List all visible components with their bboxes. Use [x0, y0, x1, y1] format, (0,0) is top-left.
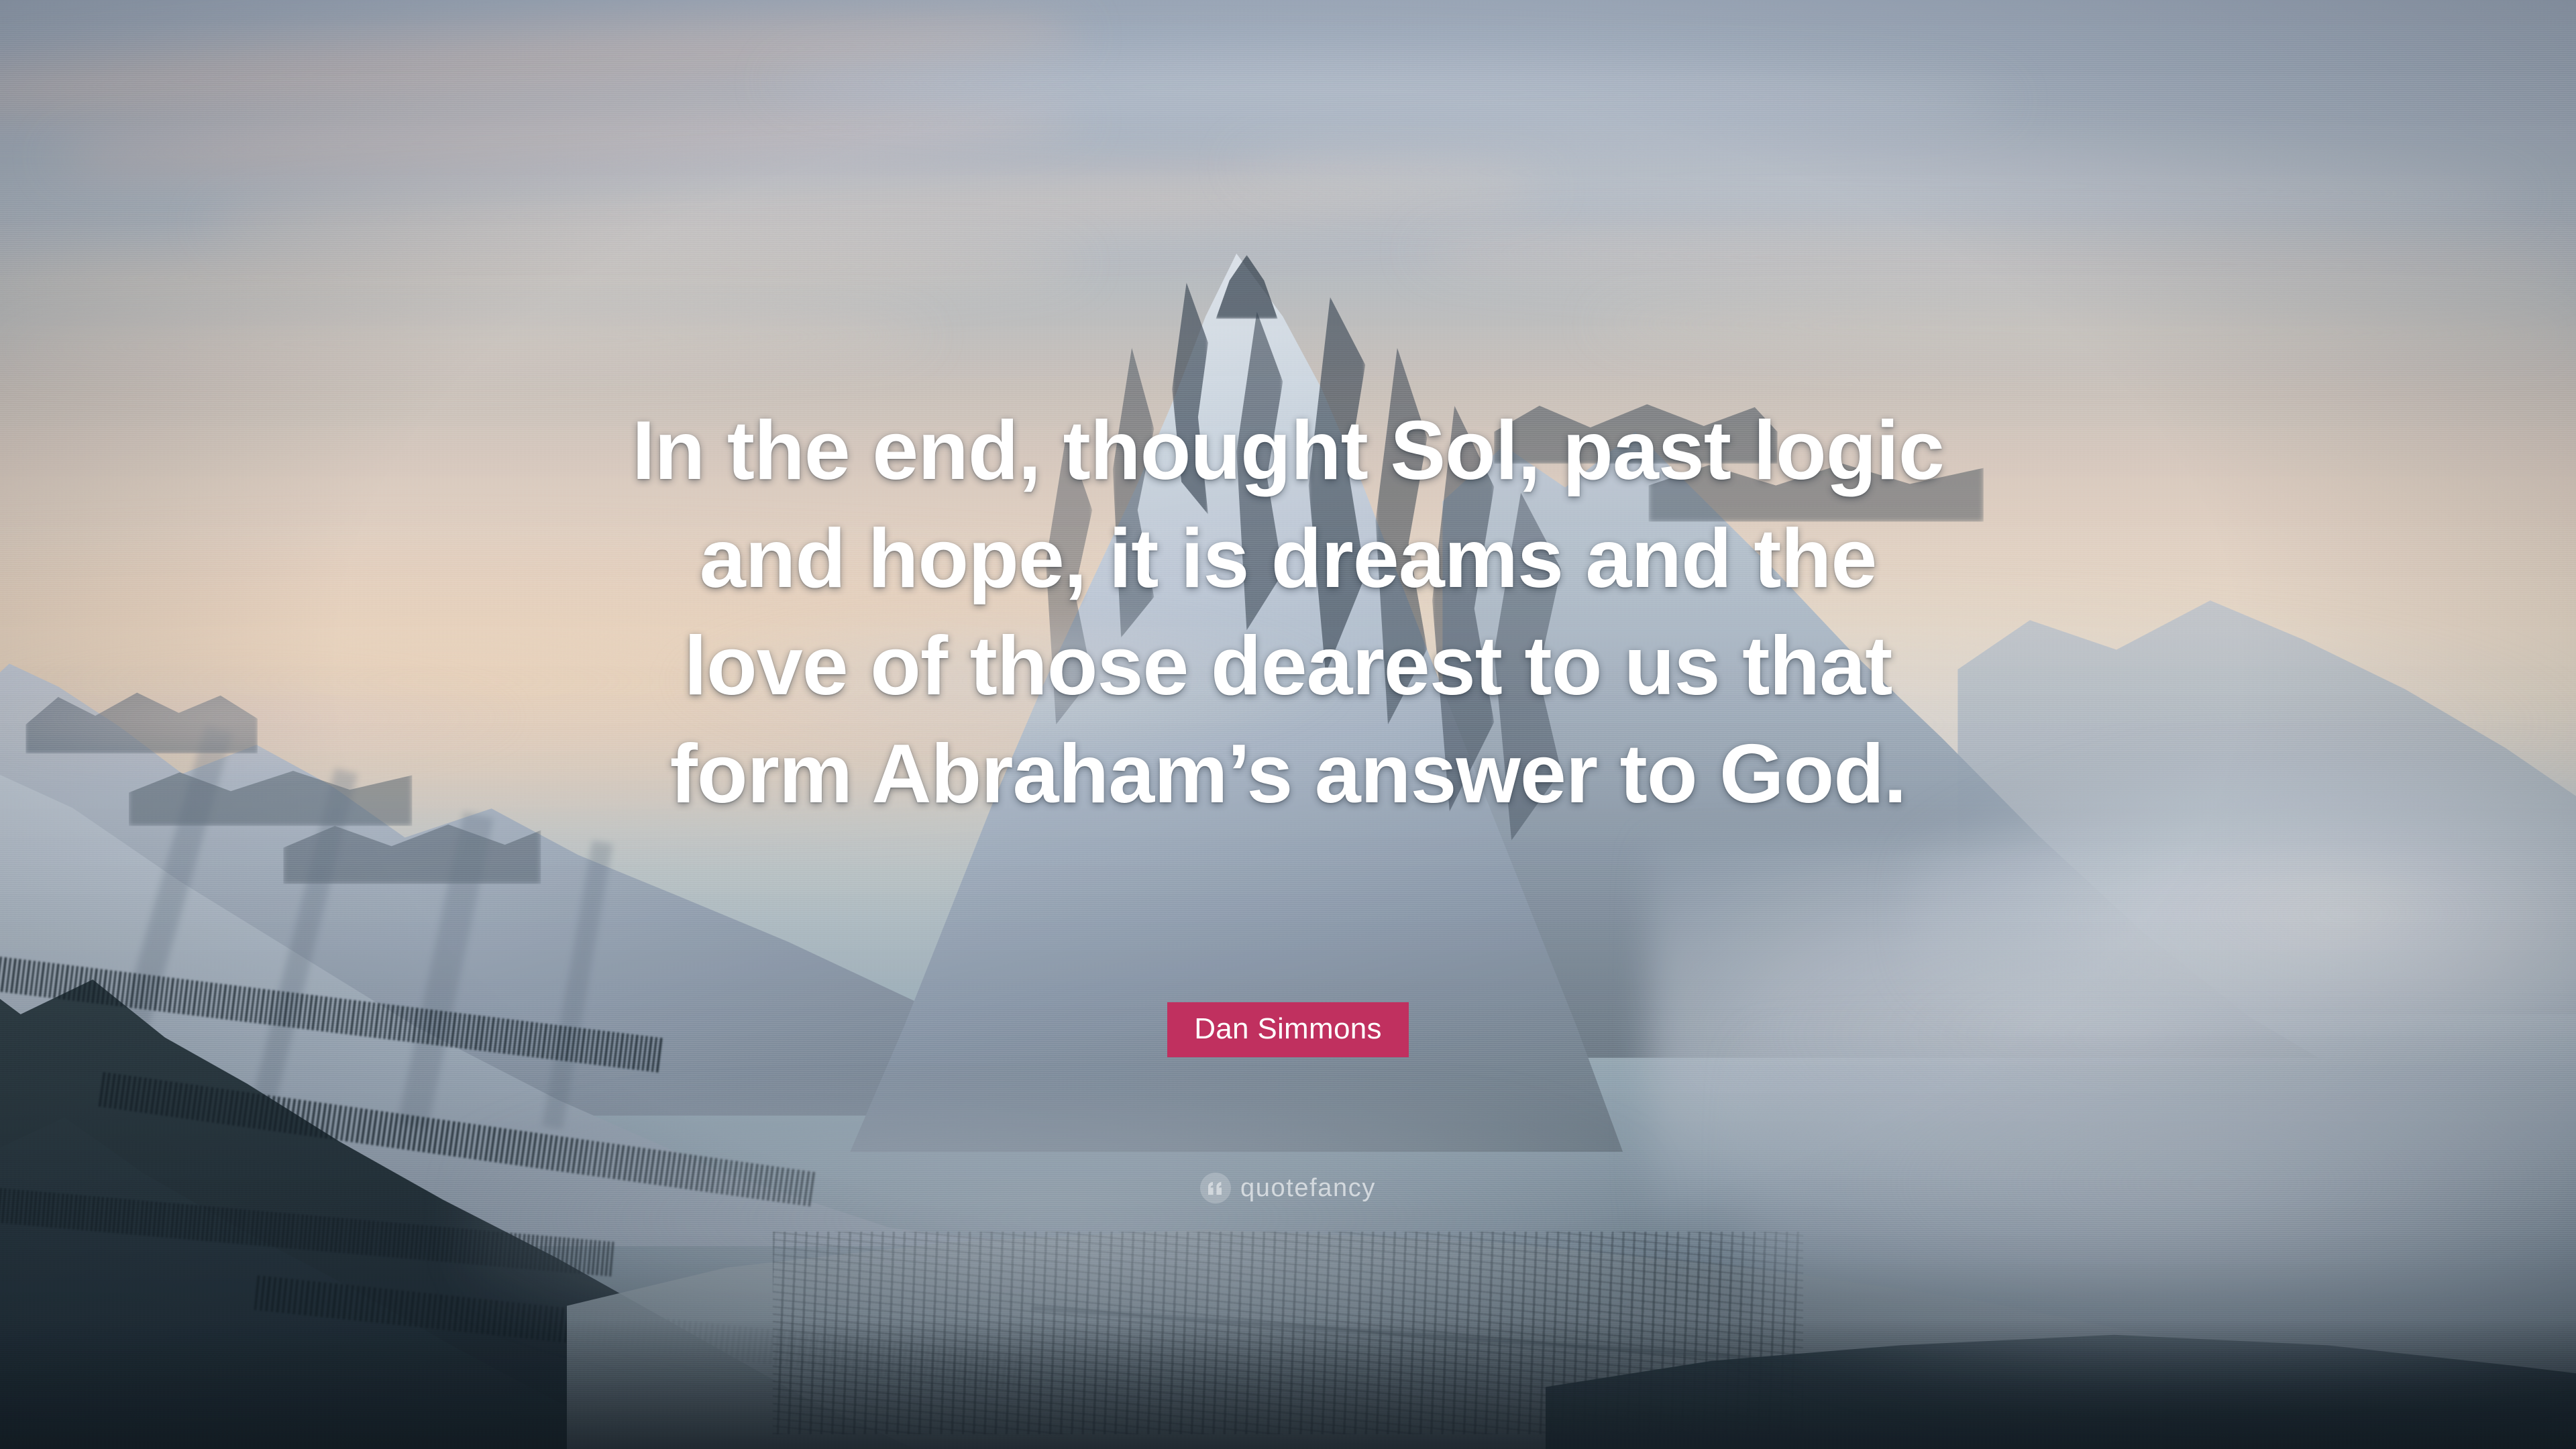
quotefancy-brand-text: quotefancy	[1240, 1174, 1376, 1203]
author-badge[interactable]: Dan Simmons	[1167, 1002, 1409, 1057]
quote-line: love of those dearest to us that	[221, 612, 2355, 720]
quote-line: form Abraham’s answer to God.	[221, 720, 2355, 828]
text-overlay: In the end, thought Sol, past logic and …	[0, 0, 2576, 1449]
quotefancy-watermark[interactable]: quotefancy	[0, 1173, 2576, 1203]
quote-mark-icon	[1200, 1173, 1231, 1203]
quote-line: In the end, thought Sol, past logic	[221, 397, 2355, 505]
author-badge-wrap: Dan Simmons	[0, 1002, 2576, 1057]
quote-text: In the end, thought Sol, past logic and …	[0, 397, 2576, 828]
quote-line: and hope, it is dreams and the	[221, 505, 2355, 613]
quote-image-canvas: In the end, thought Sol, past logic and …	[0, 0, 2576, 1449]
